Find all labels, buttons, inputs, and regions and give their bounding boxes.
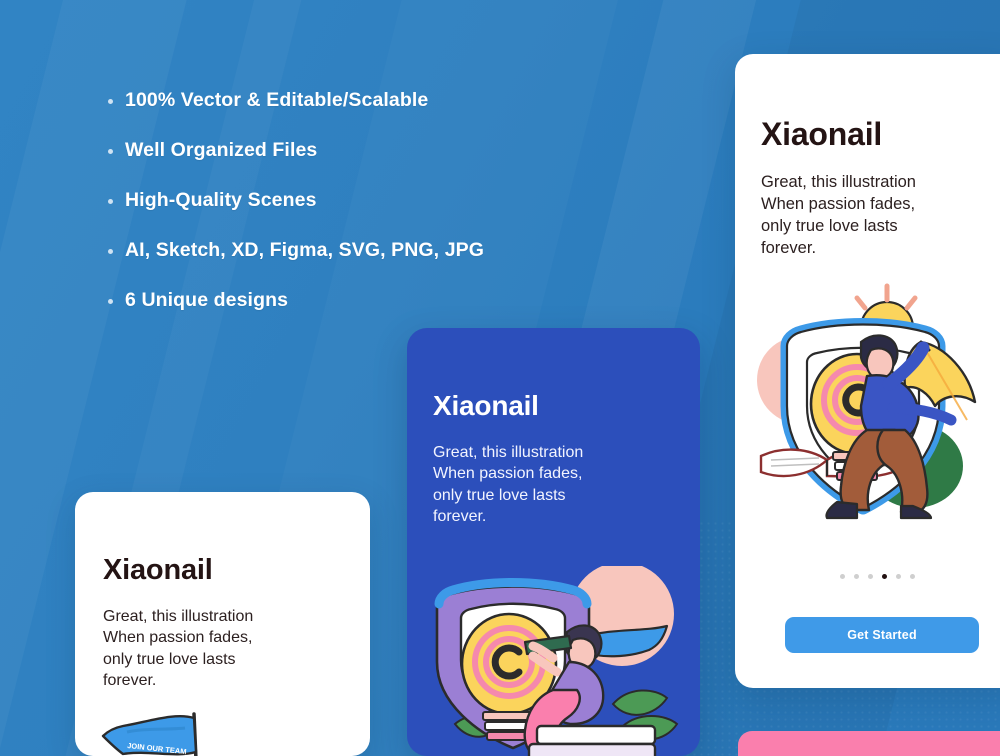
feature-label: AI, Sketch, XD, Figma, SVG, PNG, JPG bbox=[125, 238, 484, 262]
feature-label: Well Organized Files bbox=[125, 138, 317, 162]
copyright-shield-telescope-person-illustration bbox=[417, 566, 697, 756]
bullet-icon bbox=[108, 249, 113, 254]
pagination-dot[interactable] bbox=[868, 574, 873, 579]
feature-list: 100% Vector & Editable/Scalable Well Org… bbox=[108, 88, 628, 338]
onboarding-card-middle[interactable]: Xiaonail Great, this illustration When p… bbox=[407, 328, 700, 756]
card-description: Great, this illustration When passion fa… bbox=[103, 606, 253, 691]
onboarding-card-left[interactable]: Xiaonail Great, this illustration When p… bbox=[75, 492, 370, 756]
card-description: Great, this illustration When passion fa… bbox=[433, 442, 583, 527]
pagination-dot[interactable] bbox=[854, 574, 859, 579]
onboarding-card-pink[interactable] bbox=[738, 731, 1000, 756]
bullet-icon bbox=[108, 199, 113, 204]
page-title: Xiaonail bbox=[103, 554, 213, 587]
pagination-dot[interactable] bbox=[840, 574, 845, 579]
pagination-dot-active[interactable] bbox=[882, 574, 887, 579]
feature-label: High-Quality Scenes bbox=[125, 188, 317, 212]
bullet-icon bbox=[108, 299, 113, 304]
feature-label: 6 Unique designs bbox=[125, 288, 288, 312]
page-title: Xiaonail bbox=[433, 390, 539, 422]
list-item: 100% Vector & Editable/Scalable bbox=[108, 88, 628, 138]
screenshot-stage: 100% Vector & Editable/Scalable Well Org… bbox=[0, 0, 1000, 756]
card-description: Great, this illustration When passion fa… bbox=[761, 172, 916, 260]
list-item: Well Organized Files bbox=[108, 138, 628, 188]
get-started-button[interactable]: Get Started bbox=[785, 617, 979, 653]
list-item: High-Quality Scenes bbox=[108, 188, 628, 238]
pagination-dots[interactable] bbox=[735, 574, 1000, 579]
copyright-shield-umbrella-man-illustration bbox=[753, 280, 1000, 526]
onboarding-card-right[interactable]: Xiaonail Great, this illustration When p… bbox=[735, 54, 1000, 688]
feature-label: 100% Vector & Editable/Scalable bbox=[125, 88, 428, 112]
page-title: Xiaonail bbox=[761, 116, 882, 153]
blue-flag-illustration: JOIN OUR TEAM bbox=[97, 710, 227, 756]
pagination-dot[interactable] bbox=[896, 574, 901, 579]
bullet-icon bbox=[108, 99, 113, 104]
list-item: AI, Sketch, XD, Figma, SVG, PNG, JPG bbox=[108, 238, 628, 288]
pagination-dot[interactable] bbox=[910, 574, 915, 579]
bullet-icon bbox=[108, 149, 113, 154]
